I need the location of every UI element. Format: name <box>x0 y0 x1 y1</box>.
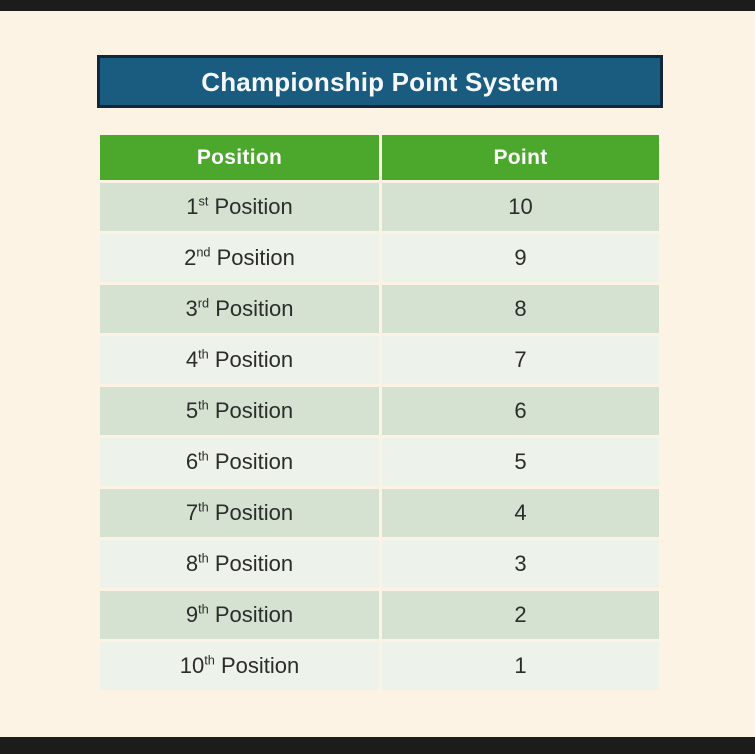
table-row[interactable]: 7th Position4 <box>100 489 659 537</box>
cell-position: 1st Position <box>100 183 379 231</box>
ordinal-suffix: nd <box>196 245 210 260</box>
table-row[interactable]: 10th Position1 <box>100 642 659 690</box>
cell-point-value: 5 <box>514 451 526 473</box>
ordinal-suffix: th <box>198 551 209 566</box>
cell-point: 8 <box>382 285 659 333</box>
cell-position: 5th Position <box>100 387 379 435</box>
ordinal-suffix: th <box>198 449 209 464</box>
ordinal-suffix: th <box>204 653 215 668</box>
column-header-position-label: Position <box>197 146 282 170</box>
cell-position-label: 4th Position <box>186 349 293 371</box>
cell-point-value: 10 <box>508 196 532 218</box>
table-row[interactable]: 1st Position10 <box>100 183 659 231</box>
cell-position: 2nd Position <box>100 234 379 282</box>
table-row[interactable]: 2nd Position9 <box>100 234 659 282</box>
column-header-position[interactable]: Position <box>100 135 379 180</box>
cell-position: 10th Position <box>100 642 379 690</box>
cell-position: 8th Position <box>100 540 379 588</box>
ordinal-suffix: st <box>198 194 208 209</box>
cell-point-value: 7 <box>514 349 526 371</box>
column-header-point[interactable]: Point <box>382 135 659 180</box>
cell-point-value: 9 <box>514 247 526 269</box>
table-header-row: Position Point <box>100 135 659 180</box>
device-status-bar-top <box>0 0 755 11</box>
ordinal-suffix: th <box>198 602 209 617</box>
page-title: Championship Point System <box>201 69 559 95</box>
table-row[interactable]: 8th Position3 <box>100 540 659 588</box>
cell-point-value: 1 <box>514 655 526 677</box>
ordinal-suffix: th <box>198 500 209 515</box>
cell-position: 9th Position <box>100 591 379 639</box>
cell-point: 9 <box>382 234 659 282</box>
cell-point: 3 <box>382 540 659 588</box>
cell-position-label: 3rd Position <box>186 298 294 320</box>
table-row[interactable]: 9th Position2 <box>100 591 659 639</box>
cell-point: 6 <box>382 387 659 435</box>
ordinal-suffix: th <box>198 398 209 413</box>
table-row[interactable]: 6th Position5 <box>100 438 659 486</box>
column-header-point-label: Point <box>494 146 548 170</box>
cell-point-value: 3 <box>514 553 526 575</box>
cell-position-label: 6th Position <box>186 451 293 473</box>
cell-position-label: 10th Position <box>180 655 300 677</box>
device-nav-bar-bottom <box>0 737 755 754</box>
cell-position-label: 8th Position <box>186 553 293 575</box>
cell-position-label: 9th Position <box>186 604 293 626</box>
cell-point: 5 <box>382 438 659 486</box>
cell-position-label: 1st Position <box>186 196 293 218</box>
cell-position: 6th Position <box>100 438 379 486</box>
cell-position-label: 5th Position <box>186 400 293 422</box>
table-row[interactable]: 5th Position6 <box>100 387 659 435</box>
ordinal-suffix: th <box>198 347 209 362</box>
cell-point-value: 6 <box>514 400 526 422</box>
card-title-bar: Championship Point System <box>97 55 663 108</box>
cell-point: 7 <box>382 336 659 384</box>
cell-position: 4th Position <box>100 336 379 384</box>
ordinal-suffix: rd <box>198 296 209 311</box>
cell-point-value: 8 <box>514 298 526 320</box>
table-row[interactable]: 4th Position7 <box>100 336 659 384</box>
cell-position-label: 2nd Position <box>184 247 295 269</box>
cell-point: 10 <box>382 183 659 231</box>
table-body: 1st Position102nd Position93rd Position8… <box>100 183 659 690</box>
cell-position: 7th Position <box>100 489 379 537</box>
points-table: Position Point 1st Position102nd Positio… <box>100 135 659 693</box>
cell-point: 4 <box>382 489 659 537</box>
cell-point-value: 4 <box>514 502 526 524</box>
cell-position-label: 7th Position <box>186 502 293 524</box>
cell-point: 2 <box>382 591 659 639</box>
cell-position: 3rd Position <box>100 285 379 333</box>
cell-point: 1 <box>382 642 659 690</box>
table-row[interactable]: 3rd Position8 <box>100 285 659 333</box>
cell-point-value: 2 <box>514 604 526 626</box>
screen: Championship Point System Position Point… <box>0 0 755 754</box>
